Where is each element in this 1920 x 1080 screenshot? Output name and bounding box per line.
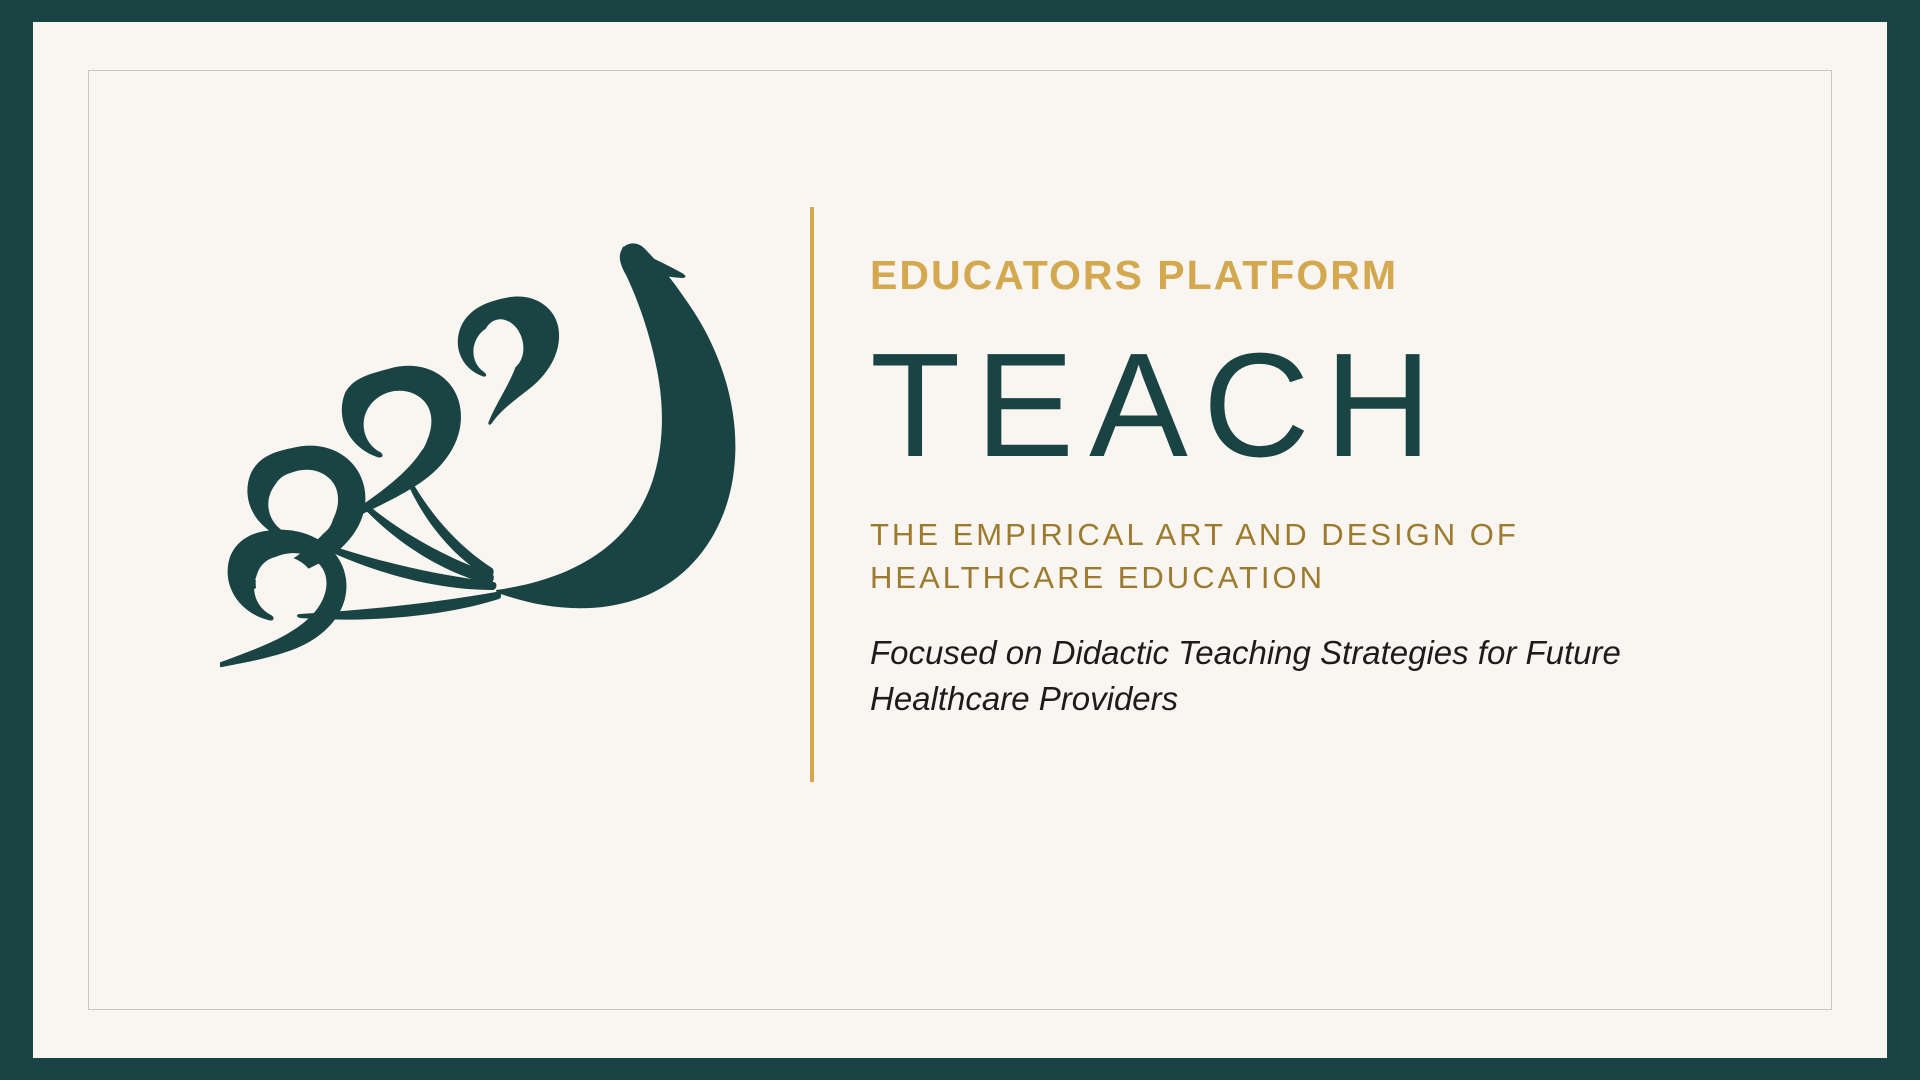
peacock-logo [220,230,780,750]
eyebrow-text: EDUCATORS PLATFORM [870,255,1670,296]
brand-subtitle: THE EMPIRICAL ART AND DESIGN OF HEALTHCA… [870,514,1630,600]
brand-text-column: EDUCATORS PLATFORM TEACH THE EMPIRICAL A… [870,255,1670,723]
presentation-slide: EDUCATORS PLATFORM TEACH THE EMPIRICAL A… [0,0,1920,1080]
brand-wordmark: TEACH [870,333,1670,478]
brand-tagline: Focused on Didactic Teaching Strategies … [870,630,1630,724]
gold-divider [810,207,814,782]
slide-content: EDUCATORS PLATFORM TEACH THE EMPIRICAL A… [0,0,1920,1080]
